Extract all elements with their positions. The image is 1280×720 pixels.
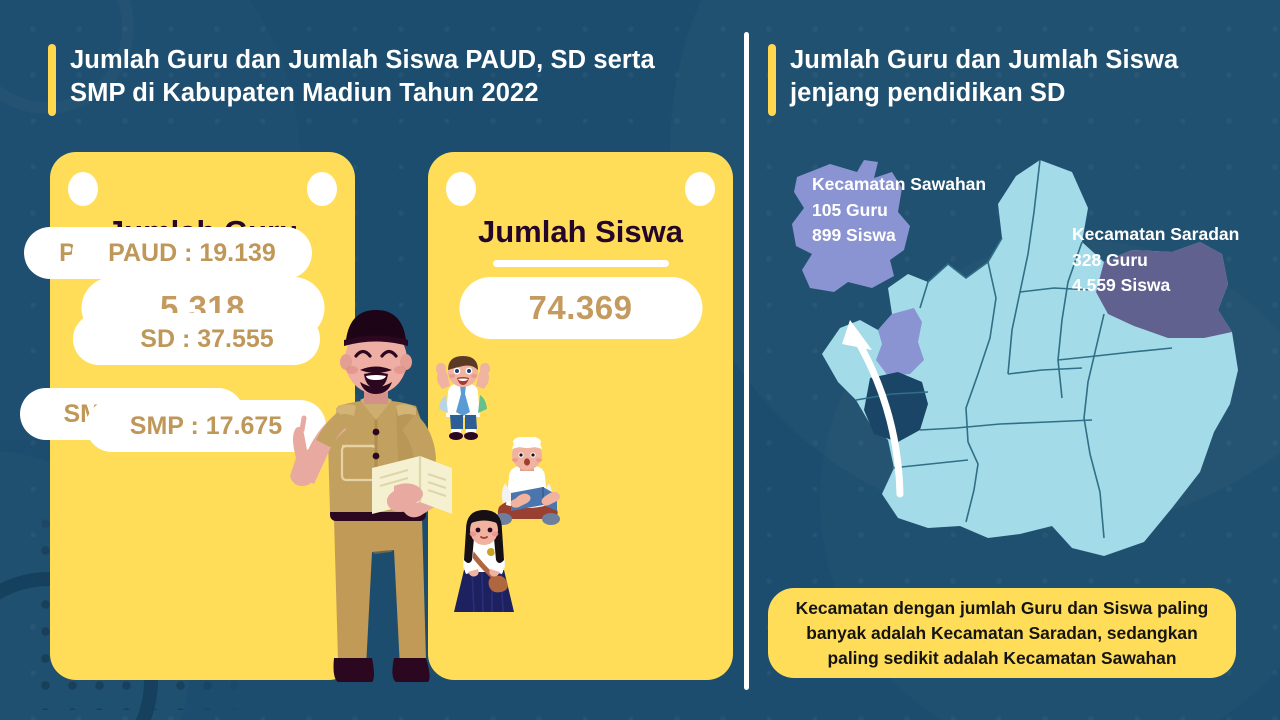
map-callout-saradan: Kecamatan Saradan 328 Guru 4.559 Siswa (1072, 222, 1239, 299)
map-region-sawahan (876, 308, 924, 376)
map-caption-box: Kecamatan dengan jumlah Guru dan Siswa p… (768, 588, 1236, 678)
teacher-illustration-icon (276, 300, 476, 720)
punch-hole-icon (307, 172, 337, 206)
map-callout-sawahan: Kecamatan Sawahan 105 Guru 899 Siswa (812, 172, 986, 249)
title-accent-bar (768, 44, 776, 116)
card-title-siswa: Jumlah Siswa (428, 214, 733, 250)
left-title-text: Jumlah Guru dan Jumlah Siswa PAUD, SD se… (70, 44, 708, 110)
card-total-siswa: 74.369 (459, 277, 702, 339)
punch-hole-icon (446, 172, 476, 206)
callout-saradan-name: Kecamatan Saradan (1072, 222, 1239, 248)
callout-sawahan-students: 899 Siswa (812, 223, 986, 249)
vertical-divider (744, 32, 749, 690)
stat-pill-siswa-paud: PAUD : 19.139 (72, 227, 312, 279)
punch-hole-icon (68, 172, 98, 206)
callout-sawahan-name: Kecamatan Sawahan (812, 172, 986, 198)
callout-saradan-students: 4.559 Siswa (1072, 273, 1239, 299)
card-underline-rule (493, 260, 669, 267)
map-caption-text: Kecamatan dengan jumlah Guru dan Siswa p… (786, 596, 1218, 671)
infographic-canvas: Jumlah Guru dan Jumlah Siswa PAUD, SD se… (0, 0, 1280, 720)
punch-hole-icon (685, 172, 715, 206)
callout-sawahan-teachers: 105 Guru (812, 198, 986, 224)
right-title-text: Jumlah Guru dan Jumlah Siswa jenjang pen… (790, 44, 1238, 110)
left-panel-title: Jumlah Guru dan Jumlah Siswa PAUD, SD se… (48, 44, 708, 116)
title-accent-bar (48, 44, 56, 116)
right-panel-title: Jumlah Guru dan Jumlah Siswa jenjang pen… (768, 44, 1238, 116)
callout-saradan-teachers: 328 Guru (1072, 248, 1239, 274)
